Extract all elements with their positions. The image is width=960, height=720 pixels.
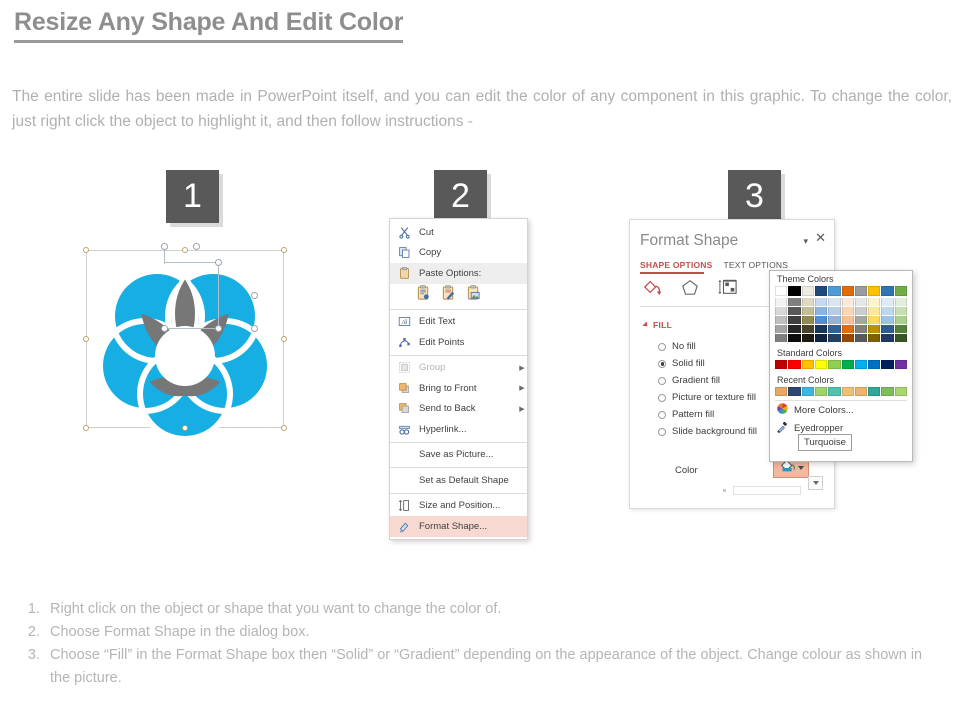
- adjust-handle-1[interactable]: [161, 243, 168, 250]
- theme-swatch-4[interactable]: [828, 286, 840, 296]
- theme-variant-1-9[interactable]: [895, 307, 907, 315]
- radio-solid-fill[interactable]: Solid fill: [658, 355, 757, 372]
- resize-handle-bottom-center[interactable]: [182, 425, 188, 431]
- edit-points-icon: [394, 334, 414, 350]
- theme-swatch-5[interactable]: [842, 286, 854, 296]
- color-field-input[interactable]: [733, 486, 801, 495]
- no-icon: [394, 447, 414, 463]
- clipboard-icon: [394, 265, 414, 281]
- theme-variant-2-4[interactable]: [828, 316, 840, 324]
- theme-variant-3-4[interactable]: [828, 325, 840, 333]
- format-shape-icon: [394, 518, 414, 534]
- theme-variant-3-7[interactable]: [868, 325, 880, 333]
- recent-swatch-6[interactable]: [855, 387, 867, 396]
- theme-variant-3-1[interactable]: [788, 325, 800, 333]
- step-badge-1: 1: [166, 170, 219, 223]
- theme-variant-2-8[interactable]: [881, 316, 893, 324]
- standard-swatch-3[interactable]: [815, 360, 827, 369]
- recent-colors-row[interactable]: [770, 387, 912, 396]
- adjust-handle-3[interactable]: [215, 259, 222, 266]
- layout-size-icon[interactable]: [718, 278, 738, 301]
- menu-item-bring-to-front[interactable]: Bring to Front ▶: [390, 378, 527, 399]
- radio-no-fill-label: No fill: [672, 341, 696, 352]
- standard-swatch-8[interactable]: [881, 360, 893, 369]
- radio-solid-fill-label: Solid fill: [672, 358, 705, 369]
- theme-variant-0-8[interactable]: [881, 298, 893, 306]
- radio-icon: [658, 394, 666, 402]
- theme-variant-4-6[interactable]: [855, 334, 867, 342]
- menu-item-format-shape[interactable]: Format Shape...: [390, 516, 527, 537]
- radio-pattern-fill[interactable]: Pattern fill: [658, 406, 757, 423]
- eyedropper-icon: [776, 420, 789, 436]
- theme-variant-0-1[interactable]: [788, 298, 800, 306]
- theme-variant-0-2[interactable]: [802, 298, 814, 306]
- radio-picture-fill-label: Picture or texture fill: [672, 392, 756, 403]
- adjust-handle-6[interactable]: [215, 325, 222, 332]
- theme-variant-0-3[interactable]: [815, 298, 827, 306]
- resize-handle-middle-right[interactable]: [281, 336, 287, 342]
- standard-colors-row[interactable]: [770, 360, 912, 369]
- theme-variant-2-9[interactable]: [895, 316, 907, 324]
- standard-swatch-1[interactable]: [788, 360, 800, 369]
- instruction-item: Right click on the object or shape that …: [44, 598, 944, 621]
- menu-item-paste-options-label: Paste Options:: [419, 268, 527, 279]
- theme-variant-0-7[interactable]: [868, 298, 880, 306]
- pane-options-caret-icon[interactable]: ▾: [803, 236, 808, 247]
- adjust-handle-4[interactable]: [251, 292, 258, 299]
- context-menu[interactable]: Cut Copy Paste Options: A Edit Text: [389, 218, 528, 540]
- theme-swatch-0[interactable]: [775, 286, 787, 296]
- scissors-icon: [394, 224, 414, 240]
- menu-divider-3: [390, 442, 527, 443]
- shape-selection-panel[interactable]: [86, 250, 284, 428]
- radio-gradient-fill-label: Gradient fill: [672, 375, 720, 386]
- menu-item-set-as-default-shape[interactable]: Set as Default Shape: [390, 470, 527, 491]
- chevron-down-icon[interactable]: [798, 466, 804, 470]
- menu-item-save-as-picture[interactable]: Save as Picture...: [390, 445, 527, 466]
- pentagon-effects-icon[interactable]: [680, 278, 700, 301]
- color-field-label: Color: [675, 465, 698, 476]
- standard-swatch-7[interactable]: [868, 360, 880, 369]
- menu-item-cut[interactable]: Cut: [390, 222, 527, 243]
- theme-colors-label: Theme Colors: [770, 271, 912, 286]
- menu-divider-4: [390, 467, 527, 468]
- menu-item-bring-to-front-label: Bring to Front: [419, 383, 517, 394]
- recent-swatch-4[interactable]: [828, 387, 840, 396]
- menu-item-cut-label: Cut: [419, 227, 527, 238]
- menu-item-send-to-back[interactable]: Send to Back ▶: [390, 399, 527, 420]
- resize-handle-middle-left[interactable]: [83, 336, 89, 342]
- adjust-line-top-h: [164, 262, 219, 263]
- adjust-line-mid: [164, 328, 219, 329]
- menu-item-size-and-position[interactable]: Size and Position...: [390, 496, 527, 517]
- menu-item-edit-points[interactable]: Edit Points: [390, 332, 527, 353]
- fill-section-header[interactable]: FILL: [644, 320, 672, 330]
- menu-item-copy-label: Copy: [419, 247, 527, 258]
- color-wheel-icon: [776, 402, 789, 418]
- recent-swatch-1[interactable]: [788, 387, 800, 396]
- resize-handle-top-right[interactable]: [281, 247, 287, 253]
- theme-variant-3-2[interactable]: [802, 325, 814, 333]
- radio-slide-background-fill[interactable]: Slide background fill: [658, 423, 757, 440]
- intro-paragraph: The entire slide has been made in PowerP…: [12, 84, 952, 134]
- menu-item-hyperlink-label: Hyperlink...: [419, 424, 527, 435]
- radio-no-fill[interactable]: No fill: [658, 338, 757, 355]
- chevron-down-icon: [813, 481, 819, 485]
- radio-icon: [658, 343, 666, 351]
- more-colors-action[interactable]: More Colors...: [770, 401, 912, 419]
- radio-icon: [658, 377, 666, 385]
- tab-shape-options[interactable]: SHAPE OPTIONS: [640, 260, 713, 270]
- radio-icon: [658, 428, 666, 436]
- menu-item-format-shape-label: Format Shape...: [419, 521, 527, 532]
- color-field-spin-button[interactable]: [808, 476, 823, 490]
- theme-swatch-6[interactable]: [855, 286, 867, 296]
- recent-swatch-3[interactable]: [815, 387, 827, 396]
- recent-swatch-9[interactable]: [895, 387, 907, 396]
- format-shape-icon-row[interactable]: [642, 278, 738, 301]
- menu-item-copy[interactable]: Copy: [390, 243, 527, 264]
- theme-swatch-9[interactable]: [895, 286, 907, 296]
- theme-variant-0-9[interactable]: [895, 298, 907, 306]
- size-position-icon: [394, 498, 414, 514]
- theme-variant-3-5[interactable]: [842, 325, 854, 333]
- tab-active-underline: [640, 272, 704, 274]
- group-icon: [394, 360, 414, 376]
- resize-handle-top-center[interactable]: [182, 247, 188, 253]
- adjust-handle-5[interactable]: [161, 325, 168, 332]
- flower-shape-graphic[interactable]: [89, 238, 281, 438]
- theme-variant-1-1[interactable]: [788, 307, 800, 315]
- page-title: Resize Any Shape And Edit Color: [14, 8, 403, 43]
- theme-variant-4-8[interactable]: [881, 334, 893, 342]
- chevron-right-icon: ▶: [517, 364, 527, 372]
- standard-colors-label: Standard Colors: [770, 342, 912, 360]
- theme-variant-3-0[interactable]: [775, 325, 787, 333]
- paste-picture-icon[interactable]: [466, 285, 481, 304]
- step-badge-3: 3: [728, 170, 781, 223]
- paste-merge-formatting-icon[interactable]: [441, 285, 456, 304]
- theme-variant-4-2[interactable]: [802, 334, 814, 342]
- theme-variant-1-4[interactable]: [828, 307, 840, 315]
- menu-item-size-position-label: Size and Position...: [419, 500, 527, 511]
- standard-swatch-5[interactable]: [842, 360, 854, 369]
- copy-icon: [394, 245, 414, 261]
- theme-swatch-2[interactable]: [802, 286, 814, 296]
- theme-variant-1-3[interactable]: [815, 307, 827, 315]
- theme-variant-3-9[interactable]: [895, 325, 907, 333]
- instructions-list: Right click on the object or shape that …: [14, 598, 944, 690]
- svg-text:A: A: [401, 319, 406, 326]
- theme-swatch-3[interactable]: [815, 286, 827, 296]
- menu-item-edit-text[interactable]: A Edit Text: [390, 312, 527, 333]
- paste-options-row[interactable]: [390, 284, 527, 307]
- send-back-icon: [394, 401, 414, 417]
- menu-item-edit-text-label: Edit Text: [419, 316, 527, 327]
- recent-colors-label: Recent Colors: [770, 369, 912, 387]
- theme-colors-variants[interactable]: [770, 298, 912, 342]
- theme-variant-4-0[interactable]: [775, 334, 787, 342]
- theme-variant-2-3[interactable]: [815, 316, 827, 324]
- recent-swatch-0[interactable]: [775, 387, 787, 396]
- theme-variant-1-6[interactable]: [855, 307, 867, 315]
- color-field-marker: [723, 489, 726, 492]
- theme-variant-3-8[interactable]: [881, 325, 893, 333]
- recent-swatch-2[interactable]: [802, 387, 814, 396]
- theme-variant-0-6[interactable]: [855, 298, 867, 306]
- adjust-handle-7[interactable]: [251, 325, 258, 332]
- theme-variant-4-3[interactable]: [815, 334, 827, 342]
- hyperlink-icon: [394, 421, 414, 437]
- standard-swatch-6[interactable]: [855, 360, 867, 369]
- format-shape-tabs[interactable]: SHAPE OPTIONS TEXT OPTIONS: [640, 260, 788, 270]
- fill-section-label: FILL: [653, 320, 672, 330]
- standard-swatch-2[interactable]: [802, 360, 814, 369]
- resize-handle-bottom-right[interactable]: [281, 425, 287, 431]
- theme-variant-2-6[interactable]: [855, 316, 867, 324]
- menu-item-group: Group ▶: [390, 358, 527, 379]
- radio-icon: [658, 360, 666, 368]
- theme-variant-2-1[interactable]: [788, 316, 800, 324]
- radio-pattern-fill-label: Pattern fill: [672, 409, 714, 420]
- resize-handle-bottom-left[interactable]: [83, 425, 89, 431]
- edit-text-icon: A: [394, 314, 414, 330]
- menu-item-save-as-picture-label: Save as Picture...: [419, 449, 527, 460]
- radio-gradient-fill[interactable]: Gradient fill: [658, 372, 757, 389]
- paste-keep-formatting-icon[interactable]: [416, 285, 431, 304]
- theme-variant-1-5[interactable]: [842, 307, 854, 315]
- theme-variant-2-0[interactable]: [775, 316, 787, 324]
- close-icon[interactable]: ✕: [815, 231, 826, 244]
- tab-text-options[interactable]: TEXT OPTIONS: [724, 260, 789, 270]
- instruction-item: Choose “Fill” in the Format Shape box th…: [44, 644, 944, 690]
- menu-divider-5: [390, 493, 527, 494]
- chevron-right-icon: ▶: [517, 405, 527, 413]
- menu-item-paste-options: Paste Options:: [390, 263, 527, 284]
- bring-front-icon: [394, 380, 414, 396]
- recent-swatch-7[interactable]: [868, 387, 880, 396]
- format-shape-title: Format Shape: [640, 232, 738, 250]
- theme-variant-4-5[interactable]: [842, 334, 854, 342]
- theme-variant-1-7[interactable]: [868, 307, 880, 315]
- more-colors-label: More Colors...: [794, 405, 854, 416]
- instruction-item: Choose Format Shape in the dialog box.: [44, 621, 944, 644]
- flower-center: [155, 326, 215, 386]
- radio-picture-or-texture-fill[interactable]: Picture or texture fill: [658, 389, 757, 406]
- menu-item-hyperlink[interactable]: Hyperlink...: [390, 419, 527, 440]
- step-badge-2: 2: [434, 170, 487, 223]
- fill-options-group[interactable]: No fill Solid fill Gradient fill Picture…: [658, 338, 757, 440]
- menu-divider-1: [390, 309, 527, 310]
- theme-variant-3-3[interactable]: [815, 325, 827, 333]
- theme-variant-0-0[interactable]: [775, 298, 787, 306]
- menu-item-send-to-back-label: Send to Back: [419, 403, 517, 414]
- theme-variant-4-7[interactable]: [868, 334, 880, 342]
- theme-variant-1-0[interactable]: [775, 307, 787, 315]
- menu-item-group-label: Group: [419, 362, 517, 373]
- chevron-right-icon: ▶: [517, 384, 527, 392]
- theme-variant-2-7[interactable]: [868, 316, 880, 324]
- expand-triangle-icon: [642, 321, 649, 328]
- theme-swatch-7[interactable]: [868, 286, 880, 296]
- no-icon: [394, 472, 414, 488]
- eyedropper-label: Eyedropper: [794, 423, 843, 434]
- adjust-line-right: [218, 262, 219, 328]
- theme-variant-2-5[interactable]: [842, 316, 854, 324]
- menu-item-edit-points-label: Edit Points: [419, 337, 527, 348]
- standard-swatch-4[interactable]: [828, 360, 840, 369]
- fill-bucket-icon[interactable]: [642, 278, 662, 301]
- theme-variant-0-5[interactable]: [842, 298, 854, 306]
- theme-variant-1-2[interactable]: [802, 307, 814, 315]
- theme-swatch-8[interactable]: [881, 286, 893, 296]
- menu-item-set-default-label: Set as Default Shape: [419, 475, 527, 486]
- adjust-handle-2[interactable]: [193, 243, 200, 250]
- color-tooltip: Turquoise: [798, 434, 852, 451]
- theme-variant-4-1[interactable]: [788, 334, 800, 342]
- recent-swatch-5[interactable]: [842, 387, 854, 396]
- resize-handle-top-left[interactable]: [83, 247, 89, 253]
- theme-variant-1-8[interactable]: [881, 307, 893, 315]
- radio-icon: [658, 411, 666, 419]
- theme-variant-2-2[interactable]: [802, 316, 814, 324]
- standard-swatch-9[interactable]: [895, 360, 907, 369]
- theme-colors-main-row[interactable]: [770, 286, 912, 296]
- theme-swatch-1[interactable]: [788, 286, 800, 296]
- theme-variant-4-9[interactable]: [895, 334, 907, 342]
- menu-divider-2: [390, 355, 527, 356]
- radio-slide-bg-fill-label: Slide background fill: [672, 426, 757, 437]
- recent-swatch-8[interactable]: [881, 387, 893, 396]
- standard-swatch-0[interactable]: [775, 360, 787, 369]
- theme-variant-4-4[interactable]: [828, 334, 840, 342]
- theme-variant-0-4[interactable]: [828, 298, 840, 306]
- theme-variant-3-6[interactable]: [855, 325, 867, 333]
